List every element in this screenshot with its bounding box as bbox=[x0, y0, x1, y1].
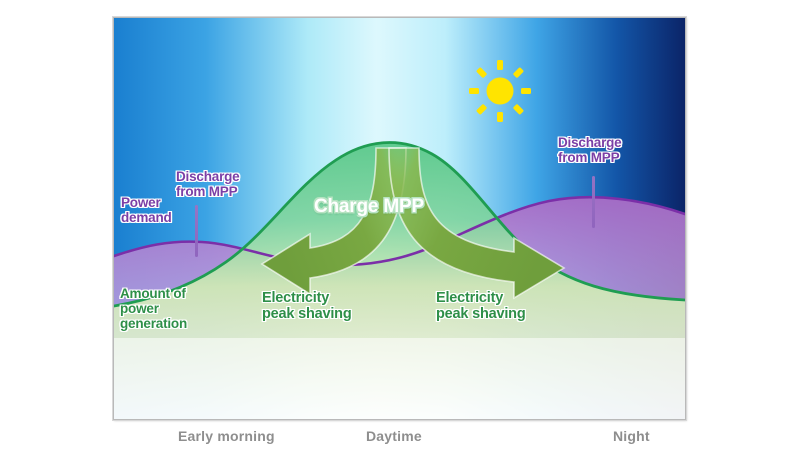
axis-label-early-morning: Early morning bbox=[178, 428, 275, 444]
chart-frame: Power demand Discharge from MPP Discharg… bbox=[113, 17, 686, 420]
axis-label-daytime: Daytime bbox=[366, 428, 422, 444]
chart-plot bbox=[114, 18, 685, 419]
label-charge-mpp: Charge MPP bbox=[314, 196, 424, 217]
chart-canvas: Power demand Discharge from MPP Discharg… bbox=[114, 18, 685, 419]
axis-label-night: Night bbox=[613, 428, 650, 444]
label-discharge-from-mpp-left: Discharge from MPP bbox=[176, 169, 239, 199]
label-discharge-from-mpp-right: Discharge from MPP bbox=[558, 135, 621, 165]
label-amount-of-power-generation: Amount of power generation bbox=[120, 286, 187, 331]
sun-icon bbox=[469, 60, 531, 122]
figure-root: Power demand Discharge from MPP Discharg… bbox=[0, 0, 800, 470]
label-power-demand: Power demand bbox=[121, 195, 172, 225]
label-electricity-peak-shaving-right: Electricity peak shaving bbox=[436, 290, 525, 322]
discharge-pointer-right bbox=[592, 176, 595, 228]
discharge-pointer-left bbox=[195, 205, 198, 257]
label-electricity-peak-shaving-left: Electricity peak shaving bbox=[262, 290, 351, 322]
